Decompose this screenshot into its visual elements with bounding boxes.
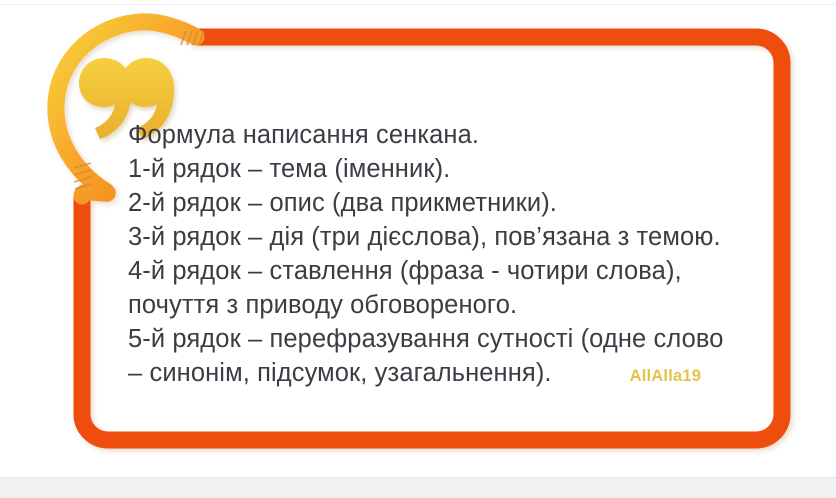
text-line-6: почуття з приводу обговореного.: [128, 288, 768, 322]
text-line-1: Формула написання сенкана.: [128, 118, 768, 152]
slide-canvas: Формула написання сенкана. 1-й рядок – т…: [0, 0, 836, 498]
watermark-label: AllAlla19: [630, 367, 702, 386]
text-line-4: 3-й рядок – дія (три дієслова), пов’язан…: [128, 220, 768, 254]
quote-text-block: Формула написання сенкана. 1-й рядок – т…: [128, 118, 768, 390]
text-line-2: 1-й рядок – тема (іменник).: [128, 152, 768, 186]
bottom-band: [0, 478, 836, 498]
text-line-5: 4-й рядок – ставлення (фраза - чотири сл…: [128, 254, 768, 288]
text-line-7: 5-й рядок – перефразування сутності (одн…: [128, 322, 768, 356]
text-line-3: 2-й рядок – опис (два прикметники).: [128, 186, 768, 220]
text-line-8-row: – синонім, підсумок, узагальнення). AllA…: [128, 356, 768, 390]
text-line-8: – синонім, підсумок, узагальнення).: [128, 356, 552, 390]
